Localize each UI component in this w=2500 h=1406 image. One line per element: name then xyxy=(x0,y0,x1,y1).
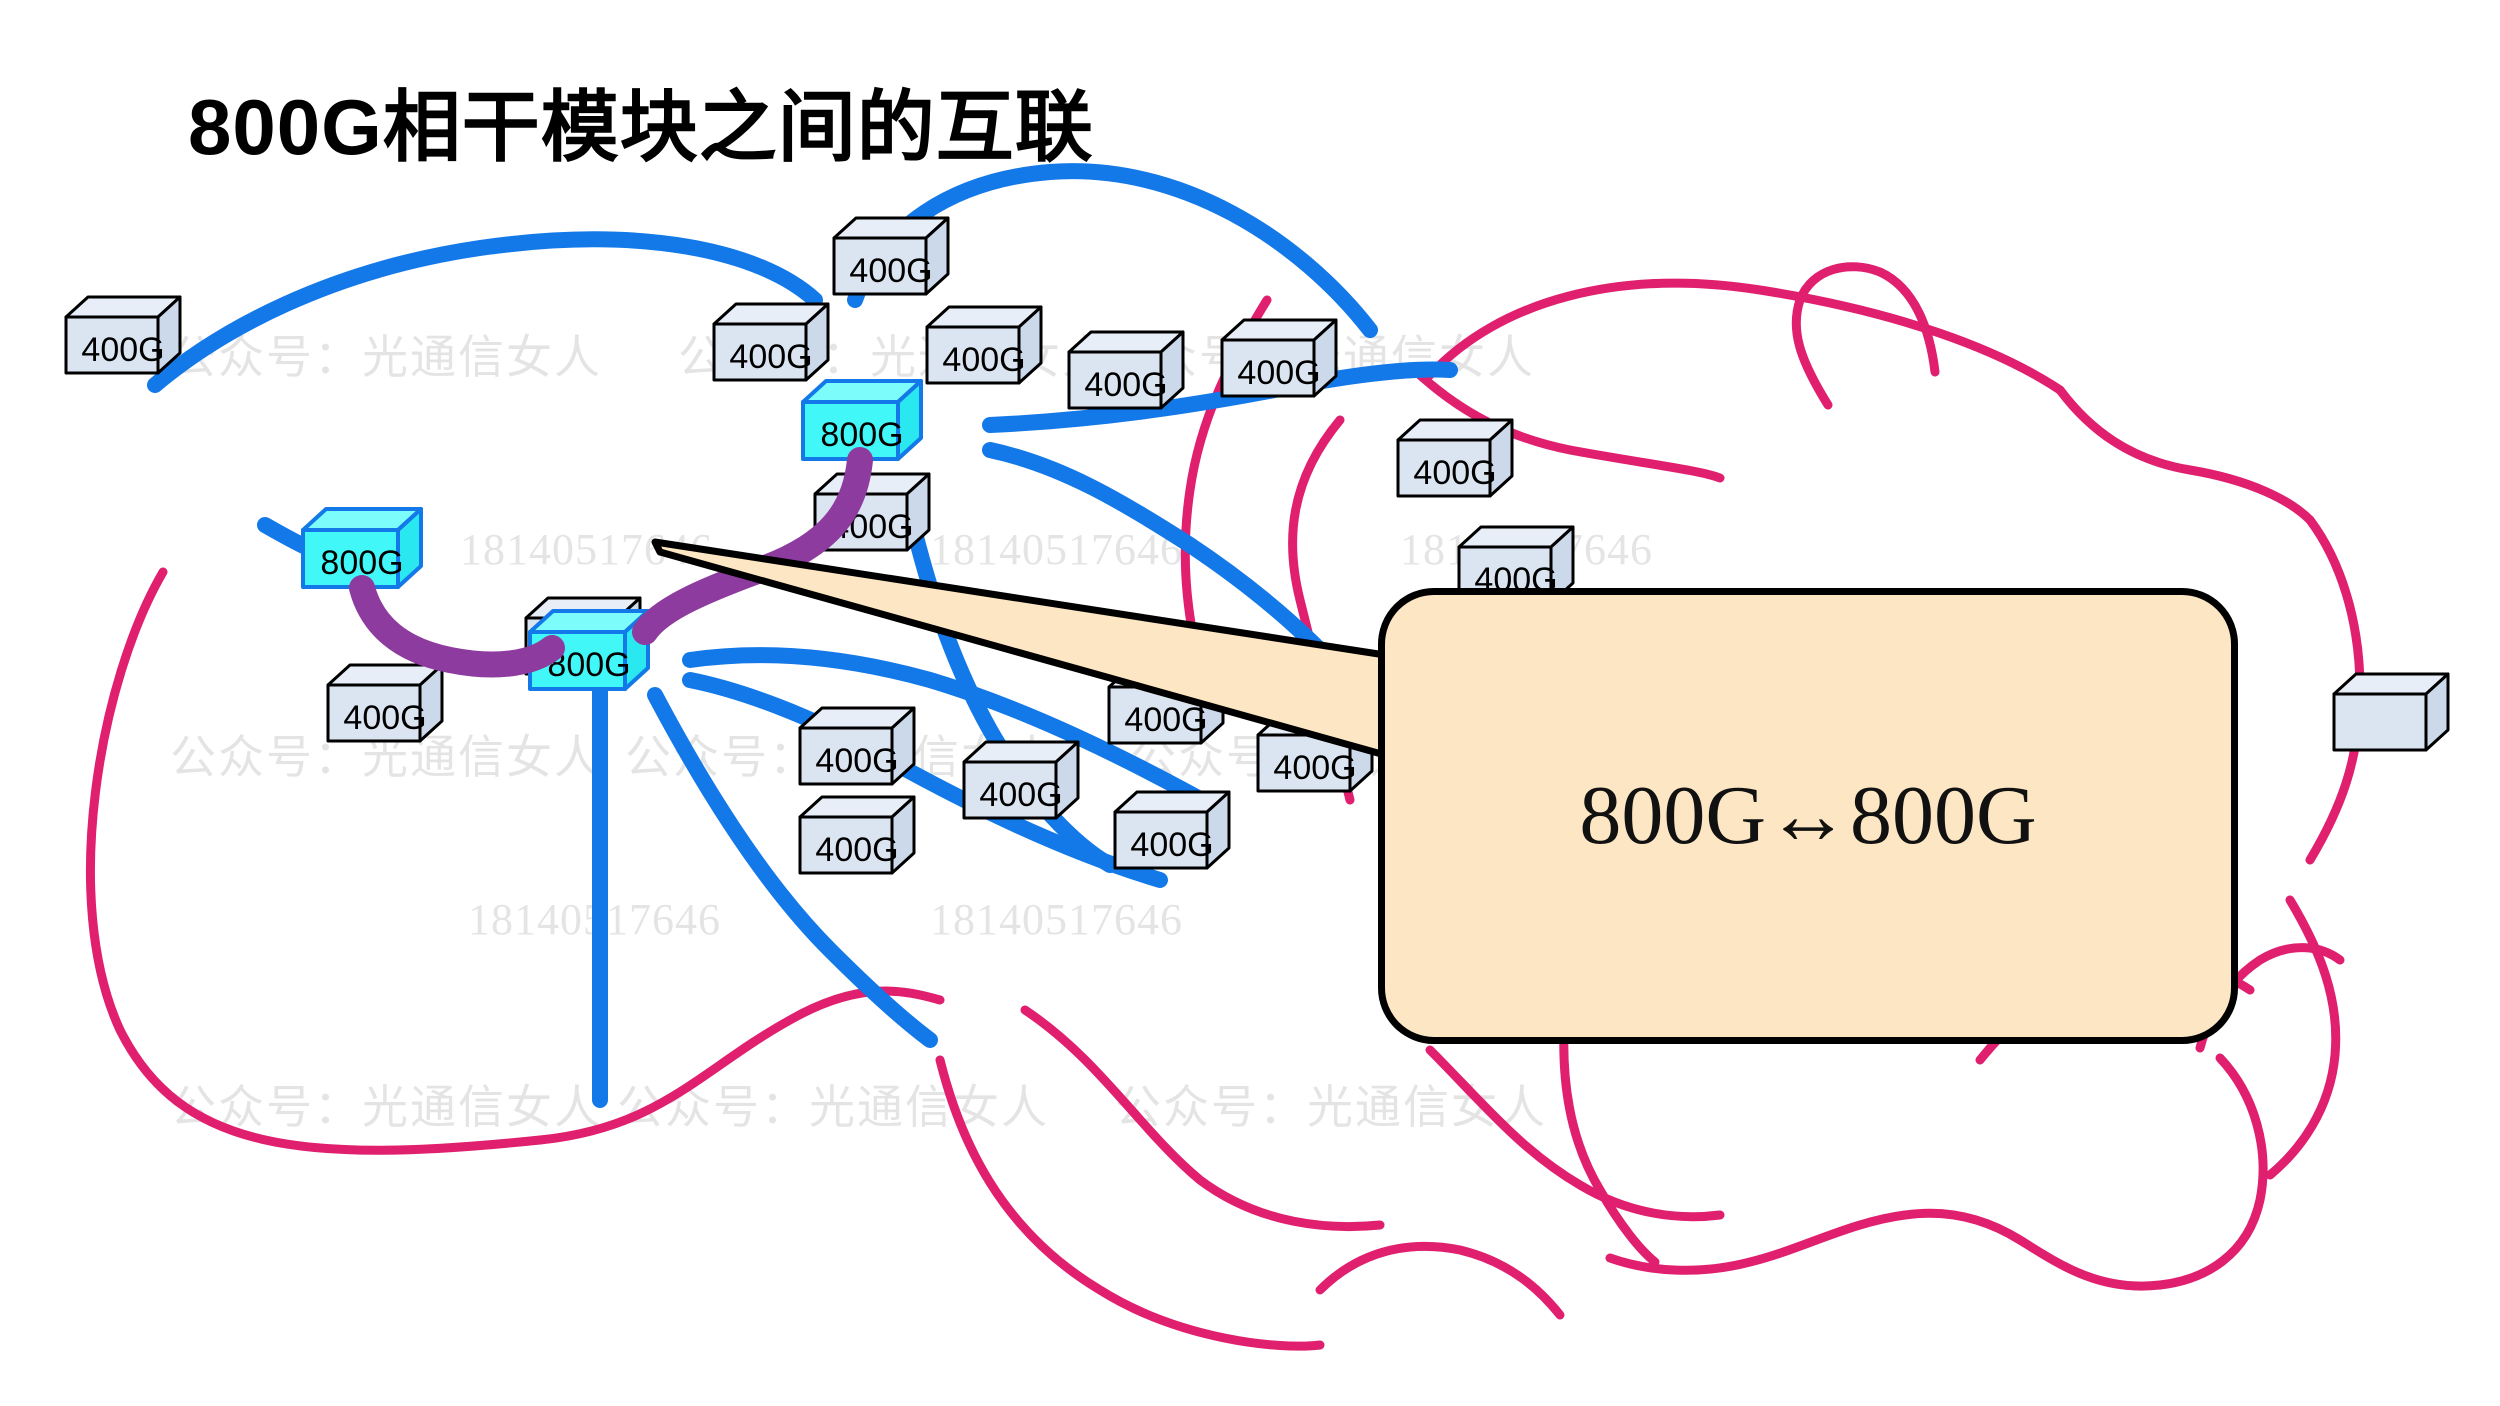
node-400g[interactable]: 400G xyxy=(798,706,916,786)
node-400g[interactable]: 400G xyxy=(798,795,916,875)
pink-link xyxy=(2270,900,2336,1175)
node-400g[interactable]: 400G xyxy=(1396,418,1514,498)
watermark-account: 公众号：光通信女人 xyxy=(170,1085,602,1131)
pink-link xyxy=(1320,1246,1560,1315)
node-400g[interactable] xyxy=(2332,672,2450,752)
pink-link xyxy=(90,572,540,1150)
pink-link xyxy=(1025,1010,1380,1227)
watermark-account: 公众号：光通信女人 xyxy=(170,335,602,381)
node-400g[interactable]: 400G xyxy=(1067,330,1185,410)
node-400g[interactable]: 400G xyxy=(1220,318,1338,398)
pink-link xyxy=(1564,1010,1655,1262)
pink-link xyxy=(1610,1215,1905,1270)
watermark-account: 公众号：光通信女人 xyxy=(617,1085,1049,1131)
node-400g[interactable]: 400G xyxy=(1107,665,1225,745)
watermark-phone: 18140517646 xyxy=(468,898,721,942)
node-400g[interactable]: 400G xyxy=(712,302,830,382)
node-800g[interactable]: 800G xyxy=(800,378,924,462)
pink-link xyxy=(1430,283,2060,390)
pink-link xyxy=(2060,390,2310,520)
callout-text: 800G↔800G xyxy=(1579,774,2036,858)
pink-link xyxy=(1905,1213,2160,1286)
pink-link xyxy=(2160,1058,2263,1285)
node-400g[interactable]: 400G xyxy=(925,305,1043,385)
node-400g[interactable]: 400G xyxy=(813,472,931,552)
node-400g[interactable]: 400G xyxy=(326,663,444,743)
watermark-phone: 18140517646 xyxy=(460,528,713,572)
pink-link xyxy=(940,1060,1320,1346)
watermark-account: 公众号：光通信女人 xyxy=(1115,1085,1547,1131)
diagram-canvas: 800G相干模块之间的互联 公众号：光通信女人公众号：光通信女人公众号：光通信女… xyxy=(0,0,2500,1406)
node-400g[interactable]: 400G xyxy=(1256,713,1374,793)
node-400g[interactable]: 400G xyxy=(962,740,1080,820)
pink-link xyxy=(1796,267,1935,405)
callout-box[interactable]: 800G↔800G xyxy=(1378,588,2238,1044)
pink-link xyxy=(540,991,940,1140)
node-400g[interactable]: 400G xyxy=(64,295,182,375)
watermark-phone: 18140517646 xyxy=(930,898,1183,942)
page-title: 800G相干模块之间的互联 xyxy=(188,88,1094,166)
blue-link xyxy=(690,680,1160,880)
blue-link xyxy=(990,450,1320,650)
pink-link xyxy=(1430,1050,1720,1217)
node-800g[interactable]: 800G xyxy=(300,506,424,590)
watermark-phone: 18140517646 xyxy=(930,528,1183,572)
node-400g[interactable]: 400G xyxy=(1113,790,1231,870)
node-400g[interactable]: 400G xyxy=(832,216,950,296)
node-800g[interactable]: 800G xyxy=(527,608,651,692)
